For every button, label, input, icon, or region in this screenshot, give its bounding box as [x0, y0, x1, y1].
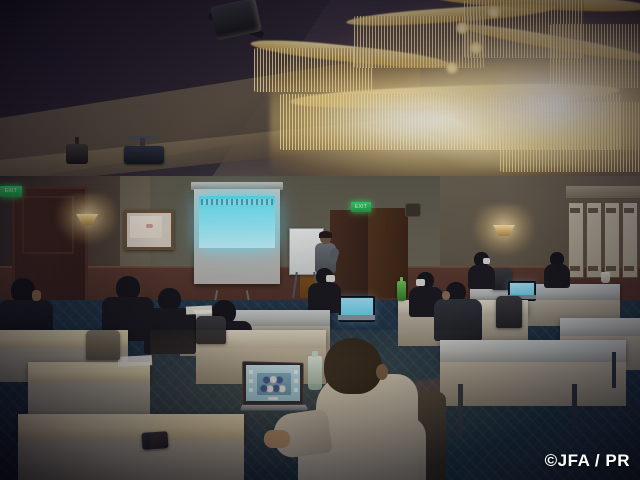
papers-documents [118, 355, 152, 367]
attendee-foreground [292, 338, 418, 480]
watermark: ©JFA / PR [545, 451, 630, 471]
paper-cup [601, 272, 610, 283]
wall-sconce-right [487, 219, 521, 243]
framed-picture-detail [146, 224, 153, 228]
team-photo [257, 373, 291, 395]
table-leg [572, 384, 577, 428]
smartphone [141, 431, 168, 450]
chandelier [250, 0, 640, 200]
exit-sign-back: EXIT [351, 202, 371, 212]
exit-sign-label: EXIT [5, 189, 17, 194]
speaker-icon [405, 203, 421, 217]
papers-documents [186, 305, 212, 314]
spotlight-icon [62, 140, 92, 168]
table-leg [612, 352, 616, 388]
projected-slide-toolbar [201, 199, 273, 205]
green-bottle [397, 281, 406, 301]
photograph: EXIT EXIT [0, 0, 640, 480]
table-row [440, 340, 626, 362]
wall-panels [566, 196, 640, 282]
exit-sign-label: EXIT [355, 205, 367, 210]
chair [196, 316, 226, 344]
wall-sconce-left [70, 208, 104, 232]
chair [496, 296, 522, 328]
table-row [18, 414, 244, 440]
projector-icon [124, 146, 164, 164]
spotlight-icon [205, 0, 271, 52]
chair [86, 330, 120, 360]
laptop [339, 296, 375, 322]
table-row [560, 318, 640, 336]
exit-sign-left: EXIT [0, 186, 22, 197]
projection-screen [191, 182, 283, 287]
table-leg [458, 384, 463, 434]
